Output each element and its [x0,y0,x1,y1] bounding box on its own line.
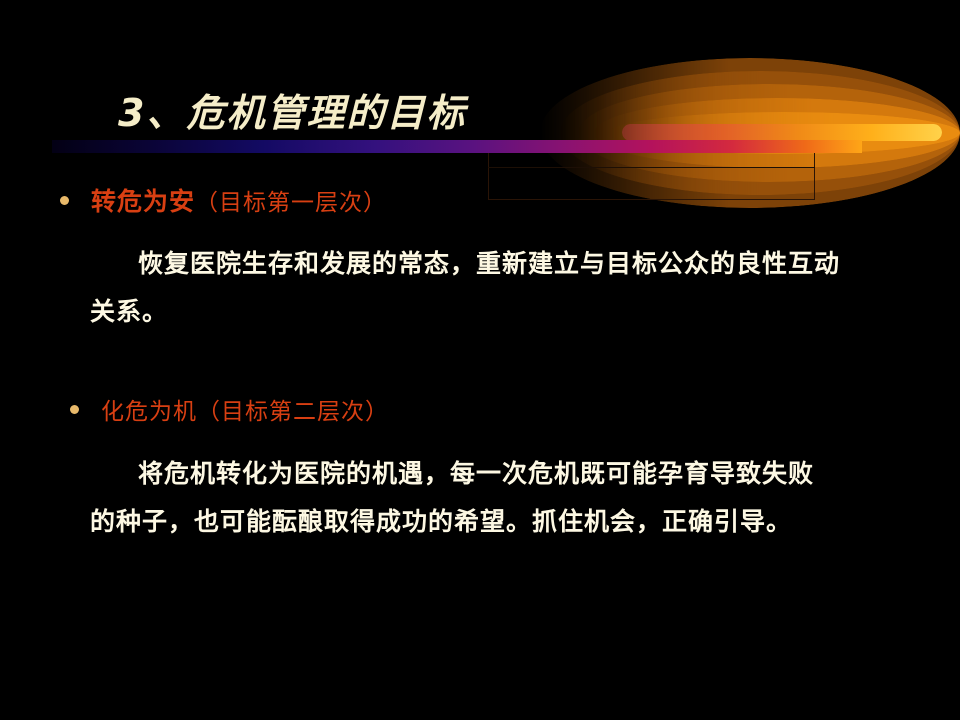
bullet-dot-icon [70,405,79,414]
decorative-outline-rule [488,167,815,168]
comet-ring-inner-4 [594,98,960,168]
slide-title: 3、危机管理的目标 [118,82,466,137]
bullet-dot-icon [60,196,69,205]
body-paragraph-2: 将危机转化为医院的机遇，每一次危机既可能孕育导致失败的种子，也可能酝酿取得成功的… [90,450,820,546]
bullet-row-2: 化危为机（目标第二层次） [70,392,389,426]
comet-core-streak [622,124,942,141]
comet-ring-outer-2 [560,71,960,195]
comet-swoosh-graphic [530,58,960,208]
presentation-slide: 3、危机管理的目标 转危为安（目标第一层次） 恢复医院生存和发展的常态，重新建立… [0,0,960,720]
bullet-heading-1-strong: 转危为安 [91,187,195,216]
bullet-heading-1-sub: （目标第一层次） [195,190,387,216]
bullet-heading-2: 化危为机（目标第二层次） [101,392,389,426]
comet-ring-outer-1 [540,58,960,208]
bullet-heading-1: 转危为安（目标第一层次） [91,182,387,218]
body-paragraph-1: 恢复医院生存和发展的常态，重新建立与目标公众的良性互动关系。 [90,240,850,336]
bullet-row-1: 转危为安（目标第一层次） [60,182,387,218]
title-divider-bar [52,140,862,153]
